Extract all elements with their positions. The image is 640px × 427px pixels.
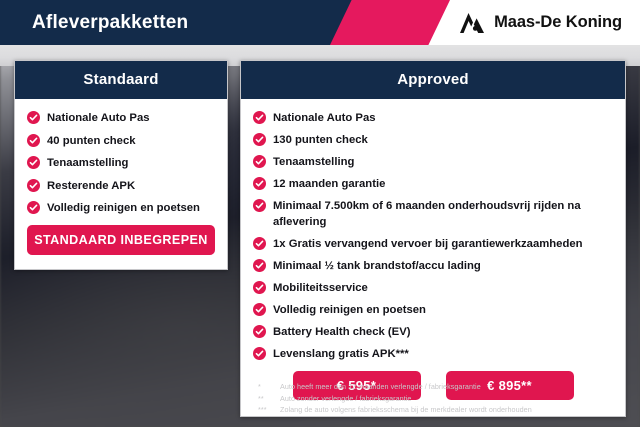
maas-de-koning-m-logo-icon bbox=[459, 12, 485, 34]
feature-label: Tenaamstelling bbox=[47, 155, 128, 171]
check-circle-icon bbox=[253, 133, 266, 146]
feature-label: Minimaal ½ tank brandstof/accu lading bbox=[273, 258, 481, 274]
check-circle-icon bbox=[253, 325, 266, 338]
check-circle-icon bbox=[27, 156, 40, 169]
card-body-approved: Nationale Auto Pas 130 punten check Tena… bbox=[241, 99, 625, 416]
package-card-approved: Approved Nationale Auto Pas 130 punten c… bbox=[240, 60, 626, 417]
card-title-standaard: Standaard bbox=[15, 61, 227, 99]
check-circle-icon bbox=[253, 259, 266, 272]
list-item: Tenaamstelling bbox=[27, 155, 215, 171]
list-item: 130 punten check bbox=[253, 132, 613, 148]
feature-label: Minimaal 7.500km of 6 maanden onderhouds… bbox=[273, 198, 613, 230]
brand-logo: Maas-De Koning bbox=[459, 0, 622, 45]
card-title-approved: Approved bbox=[241, 61, 625, 99]
check-circle-icon bbox=[27, 179, 40, 192]
list-item: Tenaamstelling bbox=[253, 154, 613, 170]
brand-name: Maas-De Koning bbox=[494, 13, 622, 32]
feature-list-approved: Nationale Auto Pas 130 punten check Tena… bbox=[253, 110, 613, 362]
footnote-marker: *** bbox=[258, 404, 280, 416]
feature-list-standaard: Nationale Auto Pas 40 punten check Tenaa… bbox=[27, 110, 215, 216]
feature-label: 40 punten check bbox=[47, 133, 136, 149]
feature-label: Levenslang gratis APK*** bbox=[273, 346, 409, 362]
footnote-text: Auto zonder verlengde / fabrieksgarantie bbox=[280, 393, 411, 405]
feature-label: Battery Health check (EV) bbox=[273, 324, 411, 340]
footnote-marker: * bbox=[258, 381, 280, 393]
list-item: Volledig reinigen en poetsen bbox=[27, 200, 215, 216]
list-item: Mobiliteitsservice bbox=[253, 280, 613, 296]
check-circle-icon bbox=[253, 155, 266, 168]
standaard-inbegrepen-button[interactable]: STANDAARD INBEGREPEN bbox=[27, 225, 215, 255]
feature-label: Volledig reinigen en poetsen bbox=[273, 302, 426, 318]
check-circle-icon bbox=[27, 111, 40, 124]
feature-label: 12 maanden garantie bbox=[273, 176, 385, 192]
footnote-single-asterisk: * Auto heeft meer dan 12 maanden verleng… bbox=[258, 381, 628, 393]
feature-label: Nationale Auto Pas bbox=[273, 110, 376, 126]
check-circle-icon bbox=[253, 111, 266, 124]
check-circle-icon bbox=[253, 177, 266, 190]
page-title: Afleverpakketten bbox=[32, 0, 188, 45]
list-item: Volledig reinigen en poetsen bbox=[253, 302, 613, 318]
check-circle-icon bbox=[253, 237, 266, 250]
card-body-standaard: Nationale Auto Pas 40 punten check Tenaa… bbox=[15, 99, 227, 269]
list-item: Battery Health check (EV) bbox=[253, 324, 613, 340]
feature-label: Resterende APK bbox=[47, 178, 135, 194]
list-item: 12 maanden garantie bbox=[253, 176, 613, 192]
check-circle-icon bbox=[27, 201, 40, 214]
check-circle-icon bbox=[253, 347, 266, 360]
list-item: Resterende APK bbox=[27, 178, 215, 194]
check-circle-icon bbox=[27, 134, 40, 147]
feature-label: 1x Gratis vervangend vervoer bij garanti… bbox=[273, 236, 583, 252]
footnote-triple-asterisk: *** Zolang de auto volgens fabrieksschem… bbox=[258, 404, 628, 416]
feature-label: Tenaamstelling bbox=[273, 154, 354, 170]
list-item: Levenslang gratis APK*** bbox=[253, 346, 613, 362]
check-circle-icon bbox=[253, 281, 266, 294]
list-item: Minimaal 7.500km of 6 maanden onderhouds… bbox=[253, 198, 613, 230]
list-item: 40 punten check bbox=[27, 133, 215, 149]
feature-label: Volledig reinigen en poetsen bbox=[47, 200, 200, 216]
list-item: 1x Gratis vervangend vervoer bij garanti… bbox=[253, 236, 613, 252]
package-card-standaard: Standaard Nationale Auto Pas 40 punten c… bbox=[14, 60, 228, 270]
footnotes: * Auto heeft meer dan 12 maanden verleng… bbox=[258, 381, 628, 416]
check-circle-icon bbox=[253, 199, 266, 212]
footnote-text: Zolang de auto volgens fabrieksschema bi… bbox=[280, 404, 532, 416]
feature-label: 130 punten check bbox=[273, 132, 368, 148]
afleverpakketten-page: Afleverpakketten Maas-De Koning Standaar… bbox=[0, 0, 640, 427]
footnote-text: Auto heeft meer dan 12 maanden verlengde… bbox=[280, 381, 481, 393]
feature-label: Mobiliteitsservice bbox=[273, 280, 368, 296]
footnote-double-asterisk: ** Auto zonder verlengde / fabrieksgaran… bbox=[258, 393, 628, 405]
feature-label: Nationale Auto Pas bbox=[47, 110, 150, 126]
footnote-marker: ** bbox=[258, 393, 280, 405]
list-item: Nationale Auto Pas bbox=[27, 110, 215, 126]
check-circle-icon bbox=[253, 303, 266, 316]
page-header: Afleverpakketten Maas-De Koning bbox=[0, 0, 640, 45]
list-item: Nationale Auto Pas bbox=[253, 110, 613, 126]
list-item: Minimaal ½ tank brandstof/accu lading bbox=[253, 258, 613, 274]
